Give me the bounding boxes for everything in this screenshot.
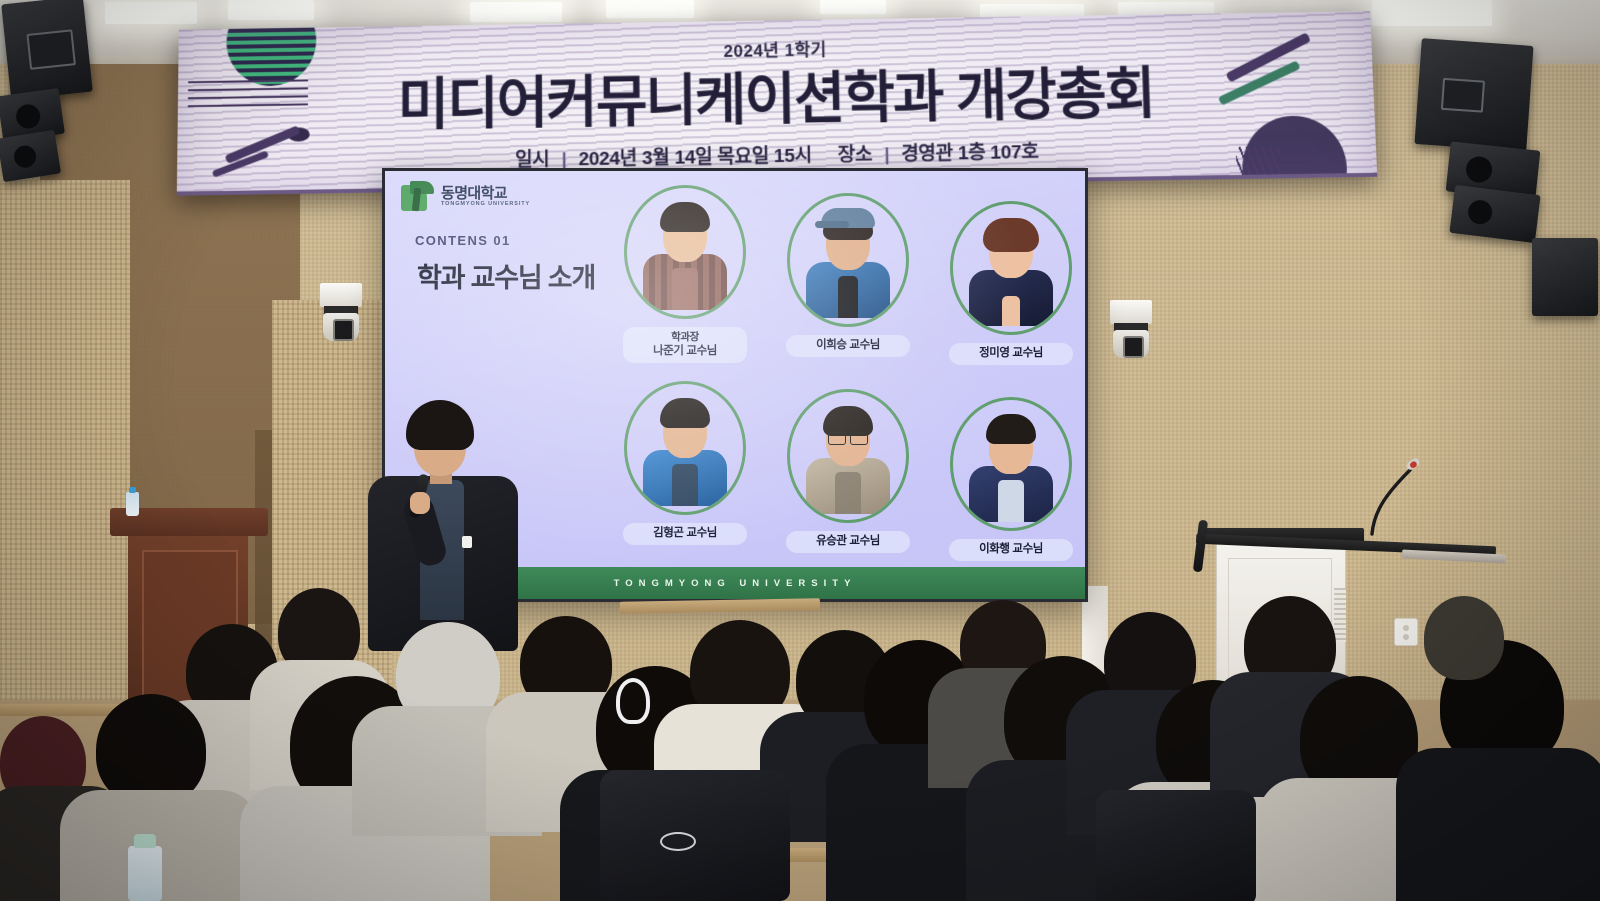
professor-hair	[660, 398, 710, 428]
professor-collar	[998, 480, 1024, 522]
camera-lens-icon	[333, 319, 354, 341]
professor-portrait-ring	[624, 185, 746, 319]
professor-hair	[660, 202, 710, 232]
logo-name-en: TONGMYONG UNIVERSITY	[441, 202, 530, 208]
professor-cap-icon	[821, 208, 875, 228]
backpack-logo	[660, 832, 696, 851]
tongmyong-emblem-icon	[401, 181, 435, 213]
banner-title: 미디어커뮤니케이션학과 개강총회	[177, 45, 1375, 145]
professor-portrait-ring	[787, 193, 909, 327]
slide-title: 학과 교수님 소개	[403, 251, 609, 300]
power-outlet	[1394, 618, 1418, 646]
professor-collar	[1002, 296, 1020, 326]
banner-place-value: 경영관 1층 107호	[901, 142, 1039, 165]
professor-name-badge: 유승관 교수님	[786, 531, 910, 553]
water-bottle	[128, 846, 162, 901]
professor-name: 유승관 교수님	[816, 535, 880, 547]
banner-place-label: 장소	[838, 145, 873, 167]
professor-name: 이희승 교수님	[816, 339, 880, 351]
professor-collar	[838, 276, 858, 318]
professor-portrait-ring	[950, 201, 1072, 335]
professor-collar	[672, 268, 698, 310]
professor-photo	[806, 406, 890, 514]
ceiling-light	[470, 2, 562, 22]
professor-collar	[835, 472, 861, 514]
professor-photo	[969, 414, 1053, 522]
professor-portrait-ring	[624, 381, 746, 515]
university-logo: 동명대학교 TONGMYONG UNIVERSITY	[401, 181, 530, 213]
professor-name-badge: 정미영 교수님	[949, 343, 1073, 365]
professor-hair	[983, 218, 1039, 252]
professor-name-badge: 김형곤 교수님	[623, 523, 747, 545]
slide-footer-text: TONGMYONG UNIVERSITY	[614, 578, 857, 589]
presenter	[362, 400, 522, 655]
backpack	[1096, 790, 1256, 901]
speaker-driver	[12, 144, 37, 169]
professor-photo	[969, 218, 1053, 326]
wall-panel	[0, 180, 130, 720]
professor-photo	[643, 202, 727, 310]
audience-member	[1396, 748, 1600, 901]
professor-grid: 학과장 나준기 교수님	[623, 185, 1073, 579]
professor-name-badge: 학과장 나준기 교수님	[623, 327, 747, 363]
presenter-name-tag	[462, 536, 472, 548]
left-line-array-speaker	[1, 0, 93, 100]
camera-lens-icon	[1123, 336, 1144, 358]
slide-kicker: CONTENS 01	[415, 233, 511, 248]
water-bottle	[126, 492, 139, 516]
right-wall-speaker	[1532, 238, 1598, 316]
professor-glasses-icon	[828, 432, 868, 443]
professor-name: 김형곤 교수님	[653, 527, 717, 539]
logo-name-ko: 동명대학교	[441, 186, 530, 202]
right-line-array-speaker	[1414, 38, 1533, 152]
lecture-hall-photo: 2024년 1학기 미디어커뮤니케이션학과 개강총회 일시 | 2024년 3월…	[0, 0, 1600, 901]
professor-name-badge: 이화행 교수님	[949, 539, 1073, 561]
banner-separator: |	[884, 144, 889, 165]
camera-housing	[320, 283, 362, 307]
professor-name: 나준기 교수님	[653, 345, 717, 357]
professor-portrait-ring	[787, 389, 909, 523]
presenter-hand	[410, 492, 430, 514]
hair-clip	[616, 678, 650, 724]
gooseneck-microphone-icon	[1366, 458, 1436, 536]
professor-card: 유승관 교수님	[786, 389, 910, 553]
ceiling-light	[820, 0, 886, 14]
professor-role: 학과장	[632, 330, 738, 344]
professor-card: 학과장 나준기 교수님	[623, 185, 747, 363]
lectern-vent	[1334, 588, 1346, 642]
camera-housing	[1110, 300, 1152, 324]
ceiling-light	[606, 0, 694, 18]
right-ptz-camera	[1108, 300, 1154, 360]
left-ptz-camera	[318, 283, 364, 343]
speaker-port	[1441, 78, 1485, 113]
presenter-hair	[406, 400, 474, 450]
professor-name: 이화행 교수님	[979, 543, 1043, 555]
professor-name-badge: 이희승 교수님	[786, 335, 910, 357]
speaker-port	[26, 29, 76, 70]
speaker-driver	[1467, 199, 1494, 226]
professor-collar	[672, 464, 698, 506]
backpack	[600, 770, 790, 901]
professor-hair	[986, 414, 1036, 444]
professor-name: 정미영 교수님	[979, 347, 1043, 359]
professor-portrait-ring	[950, 397, 1072, 531]
ceiling-light	[105, 2, 197, 24]
professor-card: 이화행 교수님	[949, 397, 1073, 561]
speaker-driver	[1465, 155, 1494, 184]
right-line-array-speaker	[1449, 185, 1540, 243]
left-line-array-speaker	[0, 130, 61, 183]
professor-photo	[806, 210, 890, 318]
speaker-driver	[15, 103, 42, 130]
professor-card: 김형곤 교수님	[623, 381, 747, 545]
audience-member	[1424, 596, 1504, 680]
ceiling-light	[1372, 0, 1492, 26]
ceiling-light	[228, 0, 314, 20]
professor-photo	[643, 398, 727, 506]
professor-card: 정미영 교수님	[949, 201, 1073, 365]
professor-card: 이희승 교수님	[786, 193, 910, 357]
banner-date-value: 2024년 3월 14일 목요일 15시	[579, 145, 812, 170]
